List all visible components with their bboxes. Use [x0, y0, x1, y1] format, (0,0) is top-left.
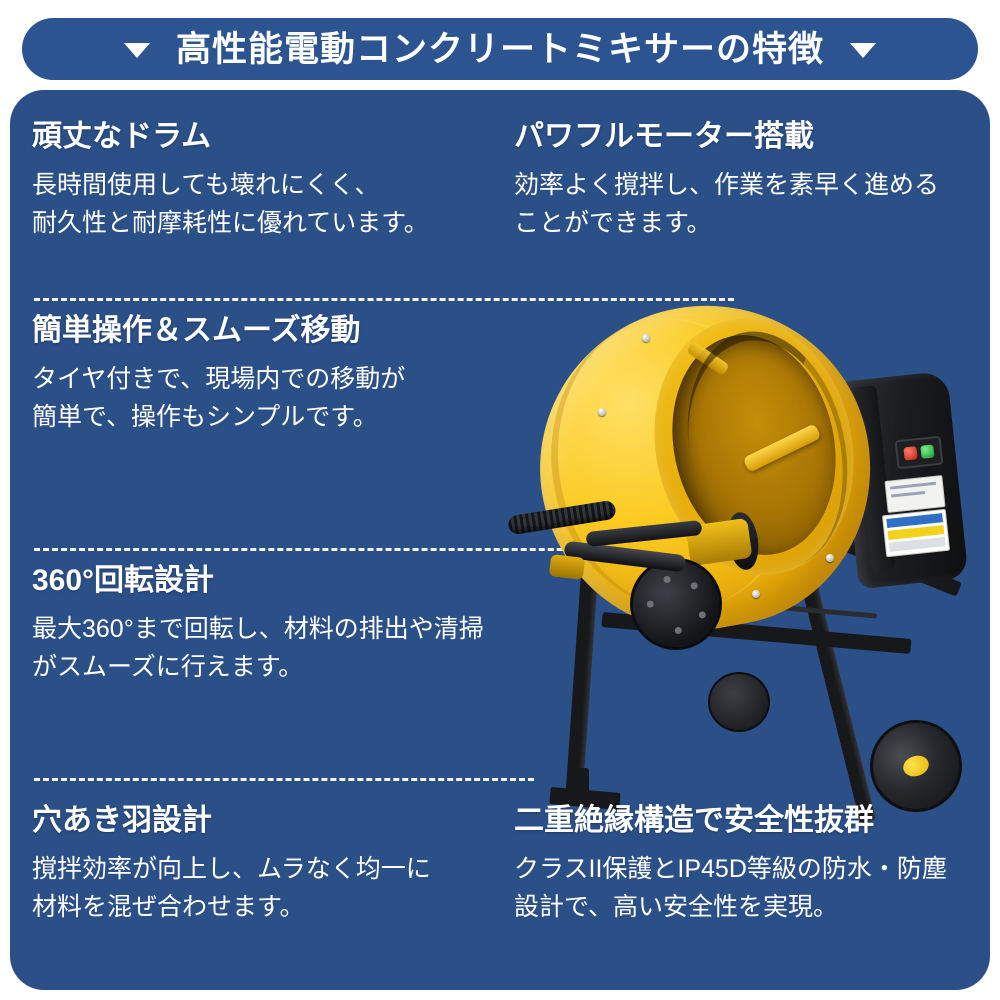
feature-blade-title: 穴あき羽設計 — [32, 802, 431, 840]
start-switch-icon — [920, 444, 934, 458]
feature-blade: 穴あき羽設計 撹拌効率が向上し、ムラなく均一に 材料を混ぜ合わせます。 — [32, 802, 431, 927]
label-row-white — [889, 537, 946, 552]
spec-label-upper — [884, 475, 945, 513]
drum-bolt — [752, 590, 760, 598]
feature-mobility-line-2: 簡単で、操作もシンプルです。 — [32, 398, 405, 437]
lock-pin — [674, 626, 682, 634]
feature-insulation-title: 二重絶縁構造で安全性抜群 — [514, 802, 947, 840]
feature-drum: 頑丈なドラム 長時間使用しても壊れにくく、 耐久性と耐摩耗性に優れています。 — [32, 118, 429, 243]
feature-rotation-line-2: がスムーズに行えます。 — [32, 648, 484, 687]
handle-end-cap — [549, 554, 585, 580]
feature-motor-line-1: 効率よく撹拌し、作業を素早く進める — [514, 166, 939, 205]
feature-motor-line-2: ことができます。 — [514, 204, 939, 243]
divider-3 — [34, 778, 534, 781]
feature-insulation: 二重絶縁構造で安全性抜群 クラスII保護とIP45D等級の防水・防塵 設計で、高… — [514, 802, 947, 927]
feature-blade-line-2: 材料を混ぜ合わせます。 — [32, 888, 431, 927]
feature-motor: パワフルモーター搭載 効率よく撹拌し、作業を素早く進める ことができます。 — [514, 118, 939, 243]
warning-label-lower — [882, 509, 950, 557]
lock-pin — [663, 576, 671, 584]
stand-foot-post — [574, 768, 589, 798]
stop-switch-icon — [903, 446, 917, 460]
features-panel: 頑丈なドラム 長時間使用しても壊れにくく、 耐久性と耐摩耗性に優れています。 パ… — [10, 90, 990, 990]
feature-mobility-title: 簡単操作＆スムーズ移動 — [32, 312, 405, 350]
feature-drum-title: 頑丈なドラム — [32, 118, 429, 156]
feature-drum-line-2: 耐久性と耐摩耗性に優れています。 — [32, 204, 429, 243]
feature-mobility-line-1: タイヤ付きで、現場内での移動が — [32, 360, 405, 399]
feature-insulation-line-1: クラスII保護とIP45D等級の防水・防塵 — [514, 850, 947, 889]
drum-bolt — [826, 554, 834, 562]
infographic-page: 高性能電動コンクリートミキサーの特徴 — [0, 0, 1000, 1000]
triangle-down-left-icon — [124, 43, 150, 58]
lock-pin — [698, 611, 706, 619]
power-switch-panel — [895, 436, 944, 470]
feature-blade-line-1: 撹拌効率が向上し、ムラなく均一に — [32, 850, 431, 889]
page-title: 高性能電動コンクリートミキサーの特徴 — [176, 32, 824, 67]
feature-motor-title: パワフルモーター搭載 — [514, 118, 939, 156]
wheel-inner — [708, 672, 770, 732]
feature-drum-line-1: 長時間使用しても壊れにくく、 — [32, 166, 429, 205]
drum-bolt — [598, 408, 606, 416]
header-banner: 高性能電動コンクリートミキサーの特徴 — [22, 18, 978, 80]
feature-insulation-line-2: 設計で、高い安全性を実現。 — [514, 888, 947, 927]
feature-rotation-line-1: 最大360°まで回転し、材料の排出や清掃 — [32, 610, 484, 649]
drum-bolt — [642, 334, 650, 342]
feature-rotation: 360°回転設計 最大360°まで回転し、材料の排出や清掃 がスムーズに行えます… — [32, 562, 484, 687]
feature-mobility: 簡単操作＆スムーズ移動 タイヤ付きで、現場内での移動が 簡単で、操作もシンプルで… — [32, 312, 405, 437]
triangle-down-right-icon — [850, 43, 876, 58]
lock-pin — [690, 582, 698, 590]
feature-rotation-title: 360°回転設計 — [32, 562, 484, 600]
lock-pin — [646, 600, 654, 608]
